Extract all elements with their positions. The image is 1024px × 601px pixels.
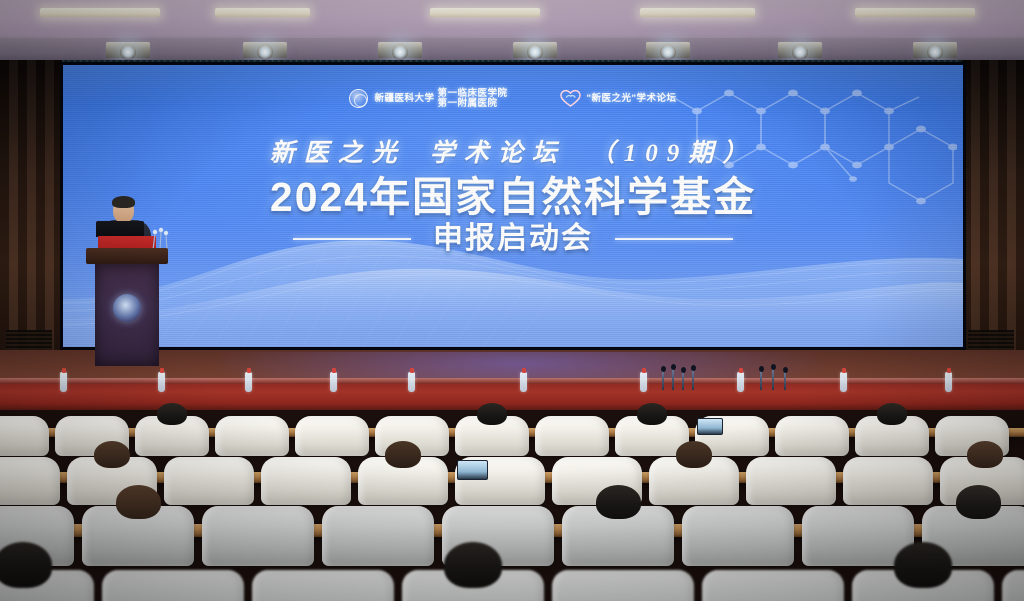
- attendee-head: [877, 403, 907, 425]
- auditorium-seat: [0, 524, 98, 601]
- spotlight-glow: [660, 44, 676, 60]
- ceiling-light: [40, 8, 160, 17]
- attendee-head: [0, 542, 52, 588]
- logo-university: 新疆医科大学 第一临床医学院 第一附属医院: [349, 89, 507, 109]
- water-bottle: [60, 372, 67, 392]
- calligraphy-right: 学术论坛: [430, 140, 566, 167]
- seat-back: [702, 570, 844, 601]
- water-bottle: [840, 372, 847, 392]
- spotlight-glow: [527, 44, 543, 60]
- forum-name: "新医之光"学术论坛: [587, 94, 677, 104]
- seat-back: [1002, 570, 1024, 601]
- spotlight-glow: [392, 44, 408, 60]
- attendee-head: [894, 542, 952, 588]
- table-microphone: [662, 370, 664, 390]
- auditorium-seat: [998, 524, 1024, 601]
- left-wall-panel: [0, 60, 62, 390]
- attendee-head: [956, 485, 1001, 519]
- auditorium-seat: [548, 524, 698, 601]
- conference-hall-scene: 新疆医科大学 第一临床医学院 第一附属医院 "新医之光": [0, 0, 1024, 601]
- water-bottle: [520, 372, 527, 392]
- screen-logo-bar: 新疆医科大学 第一临床医学院 第一附属医院 "新医之光": [63, 89, 963, 109]
- auditorium-seat: [248, 524, 398, 601]
- university-name: 新疆医科大学: [374, 94, 434, 104]
- water-bottle: [408, 372, 415, 392]
- seat-back: [102, 570, 244, 601]
- water-bottle: [330, 372, 337, 392]
- attendee-laptop: [697, 418, 723, 435]
- table-microphone: [682, 371, 684, 390]
- ceiling-light: [215, 8, 310, 17]
- water-bottle: [640, 372, 647, 392]
- ceiling-light: [640, 8, 755, 17]
- event-headline: 2024年国家自然科学基金: [63, 177, 963, 218]
- seat-back: [252, 570, 394, 601]
- table-microphone: [692, 369, 694, 390]
- water-bottle: [245, 372, 252, 392]
- led-screen: 新疆医科大学 第一临床医学院 第一附属医院 "新医之光": [63, 65, 963, 347]
- rule-left: [293, 238, 411, 240]
- issue-label: （109期）: [590, 140, 757, 167]
- ceiling-light: [430, 8, 540, 17]
- podium-laptop: [96, 221, 144, 237]
- water-bottle: [737, 372, 744, 392]
- ceiling-light: [855, 8, 975, 17]
- podium-top-surface: [86, 248, 168, 264]
- seat-back: [552, 570, 694, 601]
- heart-hands-emblem-icon: [560, 89, 581, 108]
- logo-forum: "新医之光"学术论坛: [560, 89, 677, 108]
- water-bottle: [158, 372, 165, 392]
- auditorium-seat: [398, 524, 548, 601]
- auditorium-seat: [698, 524, 848, 601]
- water-bottle: [945, 372, 952, 392]
- led-screen-frame: 新疆医科大学 第一临床医学院 第一附属医院 "新医之光": [60, 62, 966, 350]
- attendee-head: [477, 403, 507, 425]
- table-microphone: [772, 368, 774, 390]
- table-microphone: [784, 371, 786, 390]
- speaker-hair: [112, 196, 135, 208]
- attendee-laptop: [457, 460, 488, 480]
- attendee-head: [967, 441, 1003, 468]
- event-subheading-row: 申报启动会: [63, 224, 963, 254]
- attendee-head: [676, 441, 712, 468]
- circular-university-emblem-icon: [349, 89, 368, 108]
- auditorium-seat: [848, 524, 998, 601]
- attendee-head: [444, 542, 502, 588]
- attendee-head: [385, 441, 421, 468]
- table-microphone: [672, 368, 674, 390]
- right-wall-panel: [962, 60, 1024, 390]
- spotlight-glow: [120, 44, 136, 60]
- auditorium-seat: [98, 524, 248, 601]
- event-subheading: 申报启动会: [433, 224, 593, 254]
- table-microphone: [760, 370, 762, 390]
- attendee-head: [157, 403, 187, 425]
- attendee-head: [94, 441, 130, 468]
- calligraphy-left: 新医之光: [270, 140, 406, 167]
- university-sub-line-2: 第一附属医院: [437, 99, 507, 109]
- seat-row: [0, 524, 972, 601]
- podium-body: [95, 264, 159, 366]
- spotlight-glow: [927, 44, 943, 60]
- audience-area: [0, 356, 1024, 601]
- attendee-head: [637, 403, 667, 425]
- spotlight-glow: [792, 44, 808, 60]
- front-head-table-top: [0, 378, 1024, 384]
- attendee-head: [116, 485, 161, 519]
- podium: [86, 248, 168, 366]
- podium-microphones: [148, 226, 174, 250]
- calligraphy-title: 新医之光学术论坛（109期）: [63, 133, 963, 169]
- spotlight-glow: [257, 44, 273, 60]
- attendee-head: [596, 485, 641, 519]
- podium-university-emblem-icon: [113, 294, 141, 322]
- rule-right: [615, 238, 733, 240]
